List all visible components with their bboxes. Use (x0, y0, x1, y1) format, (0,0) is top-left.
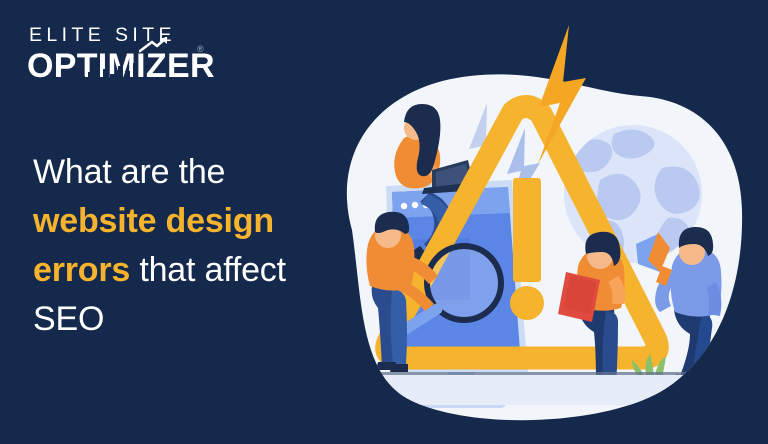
headline-line-1: What are the (33, 148, 353, 197)
window-dot-2 (412, 202, 418, 208)
exclamation-mark (510, 178, 544, 320)
headline-line-3-rest: that affect (130, 251, 286, 289)
headline-line-2: website design (33, 197, 353, 246)
headline-line-3: errors that affect (33, 246, 353, 295)
logo-line-optimizer-wrap: OPTIMIZER ® (27, 49, 215, 85)
brand-logo[interactable]: ELITE SITE OPTIMIZER ® (27, 26, 215, 85)
growth-arrow-icon (139, 37, 169, 53)
logo-line-elite-site: ELITE SITE (27, 26, 215, 46)
logo-line-optimizer: OPTIMIZER (27, 49, 215, 83)
headline-line-4: SEO (33, 295, 353, 344)
seo-blog-banner: ELITE SITE OPTIMIZER ® What are the webs… (0, 0, 768, 444)
headline-line-3-accent: errors (33, 251, 130, 289)
registered-trademark-icon: ® (197, 45, 204, 54)
page-title: What are the website design errors that … (33, 148, 353, 344)
window-dot-1 (401, 203, 407, 209)
